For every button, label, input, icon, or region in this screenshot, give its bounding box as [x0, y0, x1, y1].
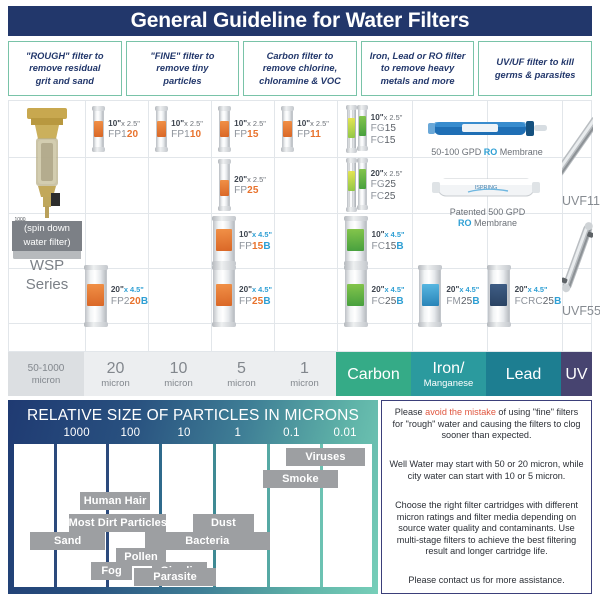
product-code: FP15B: [239, 241, 272, 253]
wsp-series-label: WSPSeries: [9, 256, 85, 294]
cartridge-label-band: [216, 229, 233, 251]
product-code-part: FG: [371, 179, 385, 190]
cartridge-label-band: [347, 229, 364, 251]
cartridge-end-cap: [418, 322, 442, 327]
page-title: General Guideline for Water Filters: [131, 9, 470, 33]
advice-paragraph-1: Please avoid the mistake of using "fine"…: [389, 407, 584, 442]
product-code: FP120: [108, 129, 140, 141]
product-dimensions: 10"x 2.5": [371, 112, 403, 124]
footer-wsp: 50-1000micron: [8, 352, 84, 396]
product-code: FM25B: [446, 296, 479, 308]
ro-membrane-image: [422, 115, 552, 141]
micron-category-bar: 50-1000micron20micron10micron5micron1mic…: [8, 352, 592, 396]
category-title: Lead: [506, 365, 542, 384]
particle-bar-parasite: Parasite: [134, 568, 216, 586]
product-code-part: 15: [385, 241, 396, 252]
product-label: 10"x 4.5"FC15B: [372, 229, 405, 252]
wsp-series-line: Series: [9, 275, 85, 294]
product-dimensions: 20"x 4.5": [111, 284, 148, 296]
caption-part-ro: RO: [484, 147, 498, 157]
product-label: 20"x 4.5"FC25B: [372, 284, 405, 307]
carbon-product-cell: 10"x 2.5"FG15FC15: [337, 101, 412, 157]
dimension-length: 10": [371, 113, 384, 122]
product-code-part: 25: [247, 185, 258, 196]
footer-carbon: Carbon: [336, 352, 411, 396]
carbon-big-tall-cell: 20"x 4.5"FC25B: [337, 268, 412, 323]
product-label: 10"x 2.5"FP11: [297, 118, 329, 141]
product-code: FP25: [234, 185, 266, 197]
product-cell: 10"x 4.5"FP15B: [211, 213, 274, 268]
product-label: 10"x 2.5"FG15FC15: [371, 112, 403, 147]
product-code-part: 25: [461, 296, 472, 307]
dimension-length: 10": [372, 230, 385, 239]
spin-down-filter-image: [15, 105, 79, 220]
product-code: FP15: [234, 129, 266, 141]
dimension-width: x 2.5": [384, 113, 403, 122]
dimension-width: x 4.5": [252, 230, 272, 239]
cartridge-end-cap: [344, 265, 368, 270]
caption-line: remove chlorine,: [263, 62, 337, 74]
product-label: 20"x 4.5"FCRC25B: [515, 284, 562, 307]
page-title-bar: General Guideline for Water Filters: [8, 6, 592, 36]
dimension-length: 20": [515, 285, 528, 294]
caption-rough-filter: "ROUGH" filter toremove residualgrit and…: [8, 41, 122, 96]
product-code-part: B: [263, 296, 270, 307]
axis-tick-1000: 1000: [63, 427, 89, 439]
dimension-width: x 4.5": [124, 285, 144, 294]
footer-20-micron: 20micron: [84, 352, 147, 396]
filter-cartridge-graphic: [156, 107, 167, 151]
advice-paragraph-2: Well Water may start with 50 or 20 micro…: [389, 459, 584, 482]
cartridge-end-cap: [212, 322, 236, 327]
product-label: 20"x 2.5"FG25FC25: [371, 168, 403, 203]
cartridge-end-cap: [357, 158, 368, 163]
particle-size-chart: RELATIVE SIZE OF PARTICLES IN MICRONS 10…: [8, 400, 378, 594]
cartridge-label-band: [348, 171, 355, 191]
category-subtitle: micron: [290, 378, 319, 390]
product-code-part: B: [472, 296, 479, 307]
category-title: Iron/: [432, 359, 464, 378]
axis-tick-10: 10: [177, 427, 190, 439]
product-dimensions: 20"x 4.5": [372, 284, 405, 296]
decade-separator: [267, 444, 270, 587]
carbon-big-cell: 10"x 4.5"FC15B: [337, 213, 412, 268]
advice-p1-pre: Please: [395, 407, 425, 417]
product-code: FC15: [371, 135, 403, 147]
cartridge-label-band: [359, 169, 366, 189]
cartridge-label-band: [422, 284, 439, 306]
decade-separator: [54, 444, 57, 587]
ro-membrane-50-100-gpd: 50-100 GPD RO Membrane: [422, 115, 552, 157]
product-label: 10"x 4.5"FP15B: [239, 229, 272, 252]
product-code-part: 20: [127, 129, 138, 140]
dimension-length: 20": [239, 285, 252, 294]
category-subtitle: micron: [164, 378, 193, 390]
caption-part-ro: RO: [458, 218, 472, 228]
cartridge-end-cap: [281, 106, 294, 111]
caption-line: Patented 500 GPD: [430, 207, 545, 218]
dimension-width: x 2.5": [247, 175, 266, 184]
cartridge-end-cap: [487, 322, 511, 327]
product-cell: 20"x 2.5"FP25: [211, 157, 274, 213]
product-cell: 10"x 2.5"FP110: [148, 101, 211, 157]
product-code-part: B: [263, 241, 270, 252]
chart-plot-area: VirusesSmokeHuman HairDustMost Dirt Part…: [14, 444, 372, 587]
product-dimensions: 20"x 4.5": [446, 284, 479, 296]
product-code-part: B: [141, 296, 148, 307]
advice-panel: Please avoid the mistake of using "fine"…: [381, 400, 592, 594]
ro-membrane-500-gpd: ISPRING Patented 500 GPDRO Membrane: [430, 173, 545, 229]
dimension-width: x 2.5": [121, 119, 140, 128]
product-label: 10"x 2.5"FP110: [171, 118, 203, 141]
uv-sterilizer-image: [562, 219, 593, 295]
filter-cartridge-graphic: [85, 266, 107, 326]
caption-line: Carbon filter to: [267, 50, 334, 62]
product-code-part: B: [554, 296, 561, 307]
caption-line: "FINE" filter to: [150, 50, 214, 62]
product-dimensions: 10"x 2.5": [297, 118, 329, 130]
carbon-product-cell: 20"x 2.5"FG25FC25: [337, 157, 412, 213]
dimension-length: 20": [372, 285, 385, 294]
cartridge-label-band: [220, 121, 228, 137]
product-code-part: 25: [384, 191, 395, 202]
product-code-part: FP: [234, 185, 247, 196]
filter-cartridge-graphic: [358, 106, 367, 150]
product-code-part: B: [396, 296, 403, 307]
carbon-cartridge-pair: [347, 106, 367, 152]
particle-bar-most-dirt-particles: Most Dirt Particles: [69, 514, 166, 532]
product-dimensions: 20"x 4.5": [239, 284, 272, 296]
product-code: FP110: [171, 129, 203, 141]
category-subtitle: micron: [32, 375, 61, 387]
cartridge-end-cap: [281, 147, 294, 152]
caption-line: particles: [163, 75, 201, 87]
footer-lead: Lead: [486, 352, 561, 396]
cartridge-end-cap: [218, 147, 231, 152]
filter-cartridge-graphic: [213, 266, 235, 326]
cartridge-end-cap: [346, 148, 357, 153]
uv-cell-top: UVF11: [562, 101, 593, 213]
caption-part: Membrane: [471, 218, 517, 228]
category-title: 5: [237, 359, 246, 378]
filter-cartridge-graphic: [93, 107, 104, 151]
filter-cartridge-graphic: [345, 217, 367, 265]
dimension-length: 20": [234, 175, 247, 184]
caption-fine-filter: "FINE" filter toremove tinyparticles: [126, 41, 240, 96]
spin-down-note: (spin downwater filter): [12, 221, 82, 251]
filter-cartridge-graphic: [347, 159, 356, 211]
product-dimensions: 20"x 4.5": [515, 284, 562, 296]
product-code-part: FC: [372, 296, 386, 307]
cartridge-label-band: [283, 121, 291, 137]
chart-axis-ticks: 10001001010.10.01: [14, 426, 372, 443]
cartridge-end-cap: [346, 105, 357, 110]
category-title: 1: [300, 359, 309, 378]
footer-1-micron: 1micron: [273, 352, 336, 396]
product-dimensions: 20"x 2.5": [234, 174, 266, 186]
product-code-part: FP: [234, 129, 247, 140]
dimension-width: x 4.5": [385, 285, 405, 294]
category-title: Carbon: [347, 365, 399, 384]
product-code: FP220B: [111, 296, 148, 308]
dimension-width: x 4.5": [528, 285, 548, 294]
caption-part: Membrane: [497, 147, 543, 157]
uv-model-label: UVF11: [562, 194, 593, 208]
cartridge-end-cap: [92, 106, 105, 111]
product-code-part: FCRC: [515, 296, 543, 307]
infographic-page: General Guideline for Water Filters "ROU…: [0, 0, 600, 600]
caption-iron-lead-ro-filter: Iron, Lead or RO filterto remove heavyme…: [361, 41, 475, 96]
product-code: FC25: [371, 191, 403, 203]
cartridge-end-cap: [357, 205, 368, 210]
dimension-length: 10": [234, 119, 247, 128]
cartridge-end-cap: [92, 147, 105, 152]
filter-cartridge-graphic: [219, 107, 230, 151]
product-dimensions: 10"x 4.5": [372, 229, 405, 241]
product-code: FCRC25B: [515, 296, 562, 308]
caption-line: remove tiny: [156, 62, 208, 74]
axis-tick-100: 100: [120, 427, 140, 439]
dimension-width: x 2.5": [310, 119, 329, 128]
product-dimensions: 10"x 2.5": [108, 118, 140, 130]
cartridge-label-band: [220, 180, 228, 196]
product-code: FG15: [371, 123, 403, 135]
particle-bar-human-hair: Human Hair: [80, 492, 150, 510]
wsp-spin-down-cell: 100050020010050(spin downwater filter)WS…: [9, 101, 85, 323]
caption-line: Iron, Lead or RO filter: [370, 50, 466, 62]
cartridge-end-cap: [212, 216, 236, 221]
dimension-length: 20": [111, 285, 124, 294]
product-code-part: 20: [130, 296, 141, 307]
caption-line: metals and more: [381, 75, 455, 87]
dimension-length: 10": [297, 119, 310, 128]
uv-model-label: UVF55FS: [562, 304, 593, 318]
wsp-series-line: WSP: [9, 256, 85, 275]
product-code-part: FC: [372, 241, 386, 252]
cartridge-end-cap: [346, 158, 357, 163]
product-dimensions: 10"x 2.5": [171, 118, 203, 130]
product-label: 10"x 2.5"FP120: [108, 118, 140, 141]
product-dimensions: 10"x 2.5": [234, 118, 266, 130]
advice-paragraph-4: Please contact us for more assistance.: [389, 575, 584, 587]
caption-line: to remove heavy: [381, 62, 454, 74]
category-subtitle: Manganese: [424, 378, 474, 390]
caption-line: RO Membrane: [430, 218, 545, 229]
product-code: FG25: [371, 179, 403, 191]
product-code-part: 15: [247, 129, 258, 140]
product-code-part: 25: [252, 296, 263, 307]
filter-cartridge-graphic: [347, 106, 356, 152]
caption-line: UV/UF filter to kill: [496, 56, 573, 68]
filter-cartridge-graphic: [419, 266, 441, 326]
ro-membrane-1-caption: 50-100 GPD RO Membrane: [422, 147, 552, 157]
spin-down-note-line: (spin down: [24, 222, 70, 236]
spin-down-note-line: water filter): [24, 236, 71, 250]
cartridge-end-cap: [155, 106, 168, 111]
carbon-cartridge-pair: [347, 159, 367, 211]
category-title: 20: [107, 359, 125, 378]
footer-iron: Iron/Manganese: [411, 352, 486, 396]
category-subtitle: micron: [227, 378, 256, 390]
ro-membrane-image: ISPRING: [430, 173, 545, 201]
cartridge-end-cap: [344, 216, 368, 221]
cartridge-end-cap: [357, 105, 368, 110]
filter-cartridge-graphic: [219, 160, 230, 210]
product-code-part: 15: [384, 135, 395, 146]
product-code-part: FP: [239, 241, 252, 252]
axis-tick-1: 1: [234, 427, 241, 439]
product-code-part: 15: [385, 123, 396, 134]
product-cell: 10"x 2.5"FP120: [85, 101, 148, 157]
uv-sterilizer-image: [562, 107, 593, 185]
advice-paragraph-3: Choose the right filter cartridges with …: [389, 500, 584, 558]
cartridge-label-band: [347, 284, 364, 306]
dimension-length: 10": [171, 119, 184, 128]
axis-tick-0.01: 0.01: [334, 427, 357, 439]
footer-uv: UV: [561, 352, 592, 396]
product-code-part: 25: [385, 296, 396, 307]
dimension-length: 20": [371, 169, 384, 178]
product-label: 20"x 2.5"FP25: [234, 174, 266, 197]
category-title: 50-1000: [28, 362, 65, 375]
product-code-part: 25: [543, 296, 554, 307]
cartridge-label-band: [157, 121, 165, 137]
dimension-width: x 4.5": [252, 285, 272, 294]
product-code-part: B: [396, 241, 403, 252]
product-cell: 10"x 2.5"FP15: [211, 101, 274, 157]
product-cell: 10"x 2.5"FP11: [274, 101, 337, 157]
cartridge-label-band: [94, 121, 102, 137]
product-code-part: FC: [371, 135, 385, 146]
dimension-length: 10": [108, 119, 121, 128]
product-dimensions: 10"x 4.5": [239, 229, 272, 241]
advice-warning-text: avoid the mistake: [425, 407, 496, 417]
footer-5-micron: 5micron: [210, 352, 273, 396]
dimension-width: x 2.5": [184, 119, 203, 128]
product-code-part: FP2: [111, 296, 130, 307]
cartridge-end-cap: [357, 146, 368, 151]
cartridge-end-cap: [84, 322, 108, 327]
particle-bar-fog: Fog: [91, 562, 132, 580]
cartridge-label-band: [490, 284, 507, 306]
dimension-width: x 4.5": [459, 285, 479, 294]
product-label: 20"x 4.5"FM25B: [446, 284, 479, 307]
product-code-part: 10: [190, 129, 201, 140]
product-code: FC15B: [372, 241, 405, 253]
caption-line: grit and sand: [36, 75, 94, 87]
cartridge-end-cap: [218, 106, 231, 111]
product-code-part: FG: [371, 123, 385, 134]
cartridge-end-cap: [346, 207, 357, 212]
cartridge-end-cap: [218, 159, 231, 164]
iron-big-tall-cell: 20"x 4.5"FM25B: [412, 268, 487, 323]
product-code-part: FP: [297, 129, 310, 140]
filter-cartridge-graphic: [282, 107, 293, 151]
cartridge-label-band: [216, 284, 233, 306]
category-title: 10: [170, 359, 188, 378]
product-code-part: FP1: [108, 129, 127, 140]
dimension-length: 20": [446, 285, 459, 294]
product-cell: 20"x 4.5"FP25B: [211, 268, 274, 323]
caption-line: germs & parasites: [495, 69, 576, 81]
cartridge-label-band: [348, 118, 355, 138]
caption-line: chloramine & VOC: [259, 75, 341, 87]
dimension-width: x 2.5": [247, 119, 266, 128]
product-code-part: FP: [239, 296, 252, 307]
caption-part: 50-100 GPD: [431, 147, 484, 157]
ro-membrane-cell: 50-100 GPD RO Membrane ISPRING Patented …: [412, 101, 562, 268]
filter-cartridge-graphic: [488, 266, 510, 326]
ro-membrane-2-caption: Patented 500 GPDRO Membrane: [430, 207, 545, 229]
dimension-width: x 2.5": [384, 169, 403, 178]
filter-cartridge-graphic: [213, 217, 235, 265]
footer-10-micron: 10micron: [147, 352, 210, 396]
product-label: 10"x 2.5"FP15: [234, 118, 266, 141]
product-label: 20"x 4.5"FP25B: [239, 284, 272, 307]
category-title: UV: [565, 365, 587, 384]
particle-bar-smoke: Smoke: [263, 470, 338, 488]
dimension-width: x 4.5": [385, 230, 405, 239]
filter-cartridge-graphic: [345, 266, 367, 326]
uv-cell-bottom: UVF55FS: [562, 213, 593, 323]
cartridge-end-cap: [218, 206, 231, 211]
product-code-part: 25: [385, 179, 396, 190]
product-dimensions: 20"x 2.5": [371, 168, 403, 180]
product-code: FP25B: [239, 296, 272, 308]
product-label: 20"x 4.5"FP220B: [111, 284, 148, 307]
filter-grid: 100050020010050(spin downwater filter)WS…: [8, 100, 592, 352]
product-code-part: FC: [371, 191, 385, 202]
cartridge-end-cap: [84, 265, 108, 270]
caption-carbon-filter: Carbon filter toremove chlorine,chlorami…: [243, 41, 357, 96]
category-subtitle: micron: [101, 378, 130, 390]
filter-cartridge-graphic: [358, 159, 367, 209]
dimension-length: 10": [239, 230, 252, 239]
caption-line: remove residual: [29, 62, 100, 74]
cartridge-end-cap: [212, 265, 236, 270]
product-code-part: 11: [310, 129, 321, 140]
chart-title: RELATIVE SIZE OF PARTICLES IN MICRONS: [14, 406, 372, 426]
product-code-part: FM: [446, 296, 461, 307]
axis-tick-0.1: 0.1: [283, 427, 300, 439]
product-code-part: 15: [252, 241, 263, 252]
particle-bar-sand: Sand: [30, 532, 105, 550]
lead-big-tall-cell: 20"x 4.5"FCRC25B: [487, 268, 562, 323]
header-captions: "ROUGH" filter toremove residualgrit and…: [8, 41, 592, 96]
product-cell: 20"x 4.5"FP220B: [85, 268, 148, 323]
cartridge-label-band: [87, 284, 104, 306]
product-code: FC25B: [372, 296, 405, 308]
particle-bar-viruses: Viruses: [286, 448, 365, 466]
caption-line: "ROUGH" filter to: [26, 50, 104, 62]
cartridge-end-cap: [344, 322, 368, 327]
caption-uv-uf-filter: UV/UF filter to killgerms & parasites: [478, 41, 592, 96]
particle-bar-dust: Dust: [193, 514, 254, 532]
product-code: FP11: [297, 129, 329, 141]
product-code-part: FP1: [171, 129, 190, 140]
cartridge-label-band: [359, 116, 366, 136]
cartridge-end-cap: [155, 147, 168, 152]
